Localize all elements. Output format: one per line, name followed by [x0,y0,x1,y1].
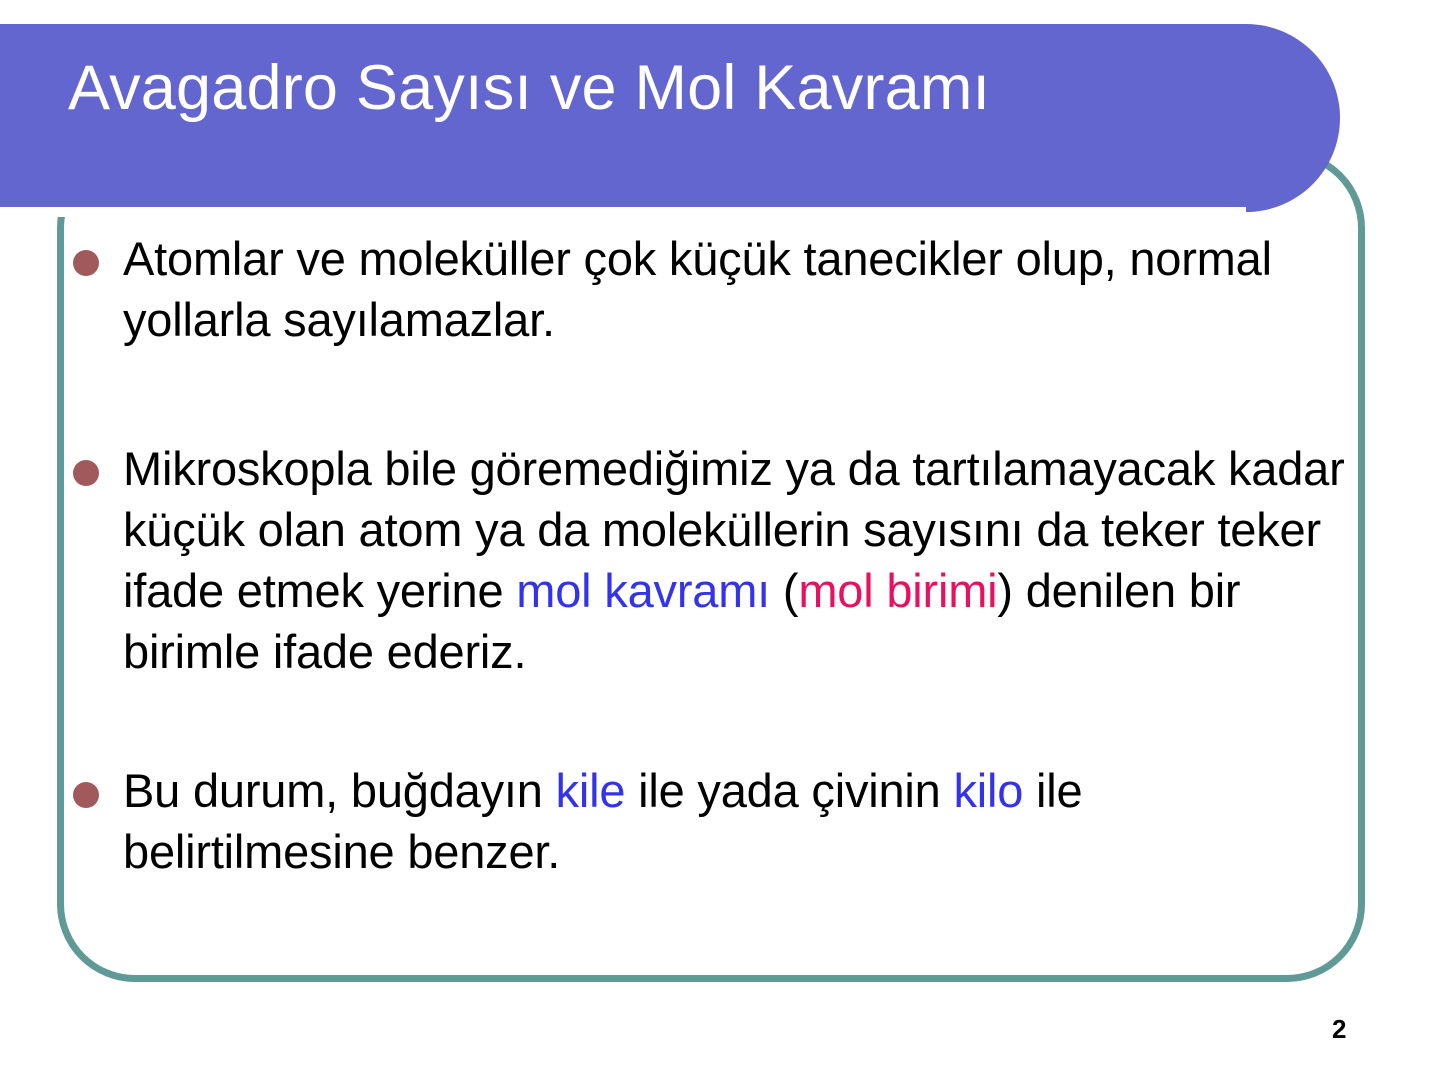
bullet-dot-icon [73,782,99,808]
bullet-3-segment-mid: ile yada çivinin [625,764,953,817]
bullet-3-segment-lead: Bu durum, buğdayın [123,764,556,817]
keyword-kilo: kilo [953,764,1023,817]
keyword-mol-kavrami: mol kavramı [516,564,770,617]
bullet-dot-icon [73,250,99,276]
bullet-text-1: Atomlar ve moleküller çok küçük tanecikl… [123,228,1360,350]
presentation-slide: Avagadro Sayısı ve Mol Kavramı Atomlar v… [0,0,1440,1080]
keyword-kile: kile [556,764,626,817]
bullet-text-3: Bu durum, buğdayın kile ile yada çivinin… [123,760,1360,882]
bullet-2-open-paren: ( [770,564,798,617]
bullet-spacer-2 [60,682,1360,760]
title-underline-rule [0,207,1246,217]
bullet-1-segment-plain: Atomlar ve moleküller çok küçük tanecikl… [123,232,1272,346]
slide-title: Avagadro Sayısı ve Mol Kavramı [68,52,990,124]
keyword-mol-birimi: mol birimi [798,564,997,617]
bullet-list: Atomlar ve moleküller çok küçük tanecikl… [60,228,1360,882]
list-item: Atomlar ve moleküller çok küçük tanecikl… [60,228,1360,350]
bullet-text-2: Mikroskopla bile göremediğimiz ya da tar… [123,438,1360,682]
bullet-dot-icon [73,460,99,486]
bullet-spacer-1 [60,350,1360,438]
list-item: Mikroskopla bile göremediğimiz ya da tar… [60,438,1360,682]
page-number: 2 [1332,1014,1346,1045]
list-item: Bu durum, buğdayın kile ile yada çivinin… [60,760,1360,882]
